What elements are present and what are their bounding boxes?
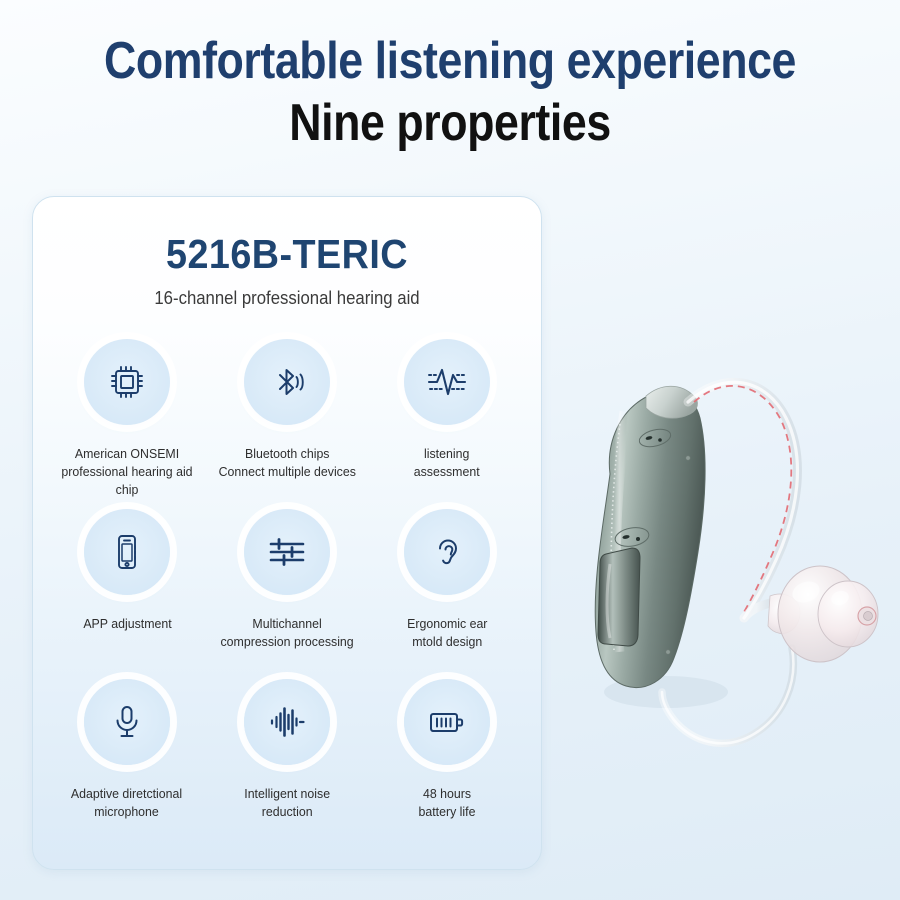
product-model-name: 5216B-TERIC: [53, 231, 520, 278]
feature-label: Adaptive diretctional microphone: [71, 785, 182, 821]
page-header: Comfortable listening experience Nine pr…: [0, 34, 900, 152]
noise-waveform-icon: [244, 679, 330, 765]
feature-item[interactable]: American ONSEMI professional hearing aid…: [47, 339, 207, 509]
feature-item[interactable]: APP adjustment: [47, 509, 207, 679]
feature-label: Bluetooth chips Connect multiple devices: [218, 445, 355, 481]
feature-label: American ONSEMI professional hearing aid…: [51, 445, 203, 499]
feature-item[interactable]: Adaptive diretctional microphone: [47, 679, 207, 849]
waveform-assessment-icon: [404, 339, 490, 425]
feature-label: Ergonomic ear mtold design: [407, 615, 487, 651]
product-image-hearing-aid: [548, 352, 892, 782]
product-subtitle: 16-channel professional hearing aid: [51, 288, 523, 309]
ear-icon: [404, 509, 490, 595]
feature-label: APP adjustment: [83, 615, 171, 633]
smartphone-icon: [84, 509, 170, 595]
feature-label: Multichannel compression processing: [220, 615, 353, 651]
feature-label: listening assessment: [414, 445, 480, 481]
feature-item[interactable]: listening assessment: [367, 339, 527, 509]
headline-primary: Comfortable listening experience: [63, 34, 837, 88]
features-grid: American ONSEMI professional hearing aid…: [33, 339, 541, 849]
battery-icon: [404, 679, 490, 765]
chip-icon: [84, 339, 170, 425]
feature-item[interactable]: Ergonomic ear mtold design: [367, 509, 527, 679]
product-feature-card: 5216B-TERIC 16-channel professional hear…: [32, 196, 542, 870]
feature-item[interactable]: Multichannel compression processing: [207, 509, 367, 679]
feature-item[interactable]: Bluetooth chips Connect multiple devices: [207, 339, 367, 509]
microphone-icon: [84, 679, 170, 765]
equalizer-sliders-icon: [244, 509, 330, 595]
feature-item[interactable]: 48 hours battery life: [367, 679, 527, 849]
feature-item[interactable]: Intelligent noise reduction: [207, 679, 367, 849]
bluetooth-icon: [244, 339, 330, 425]
headline-secondary: Nine properties: [63, 94, 837, 152]
feature-label: Intelligent noise reduction: [244, 785, 330, 821]
feature-label: 48 hours battery life: [418, 785, 475, 821]
